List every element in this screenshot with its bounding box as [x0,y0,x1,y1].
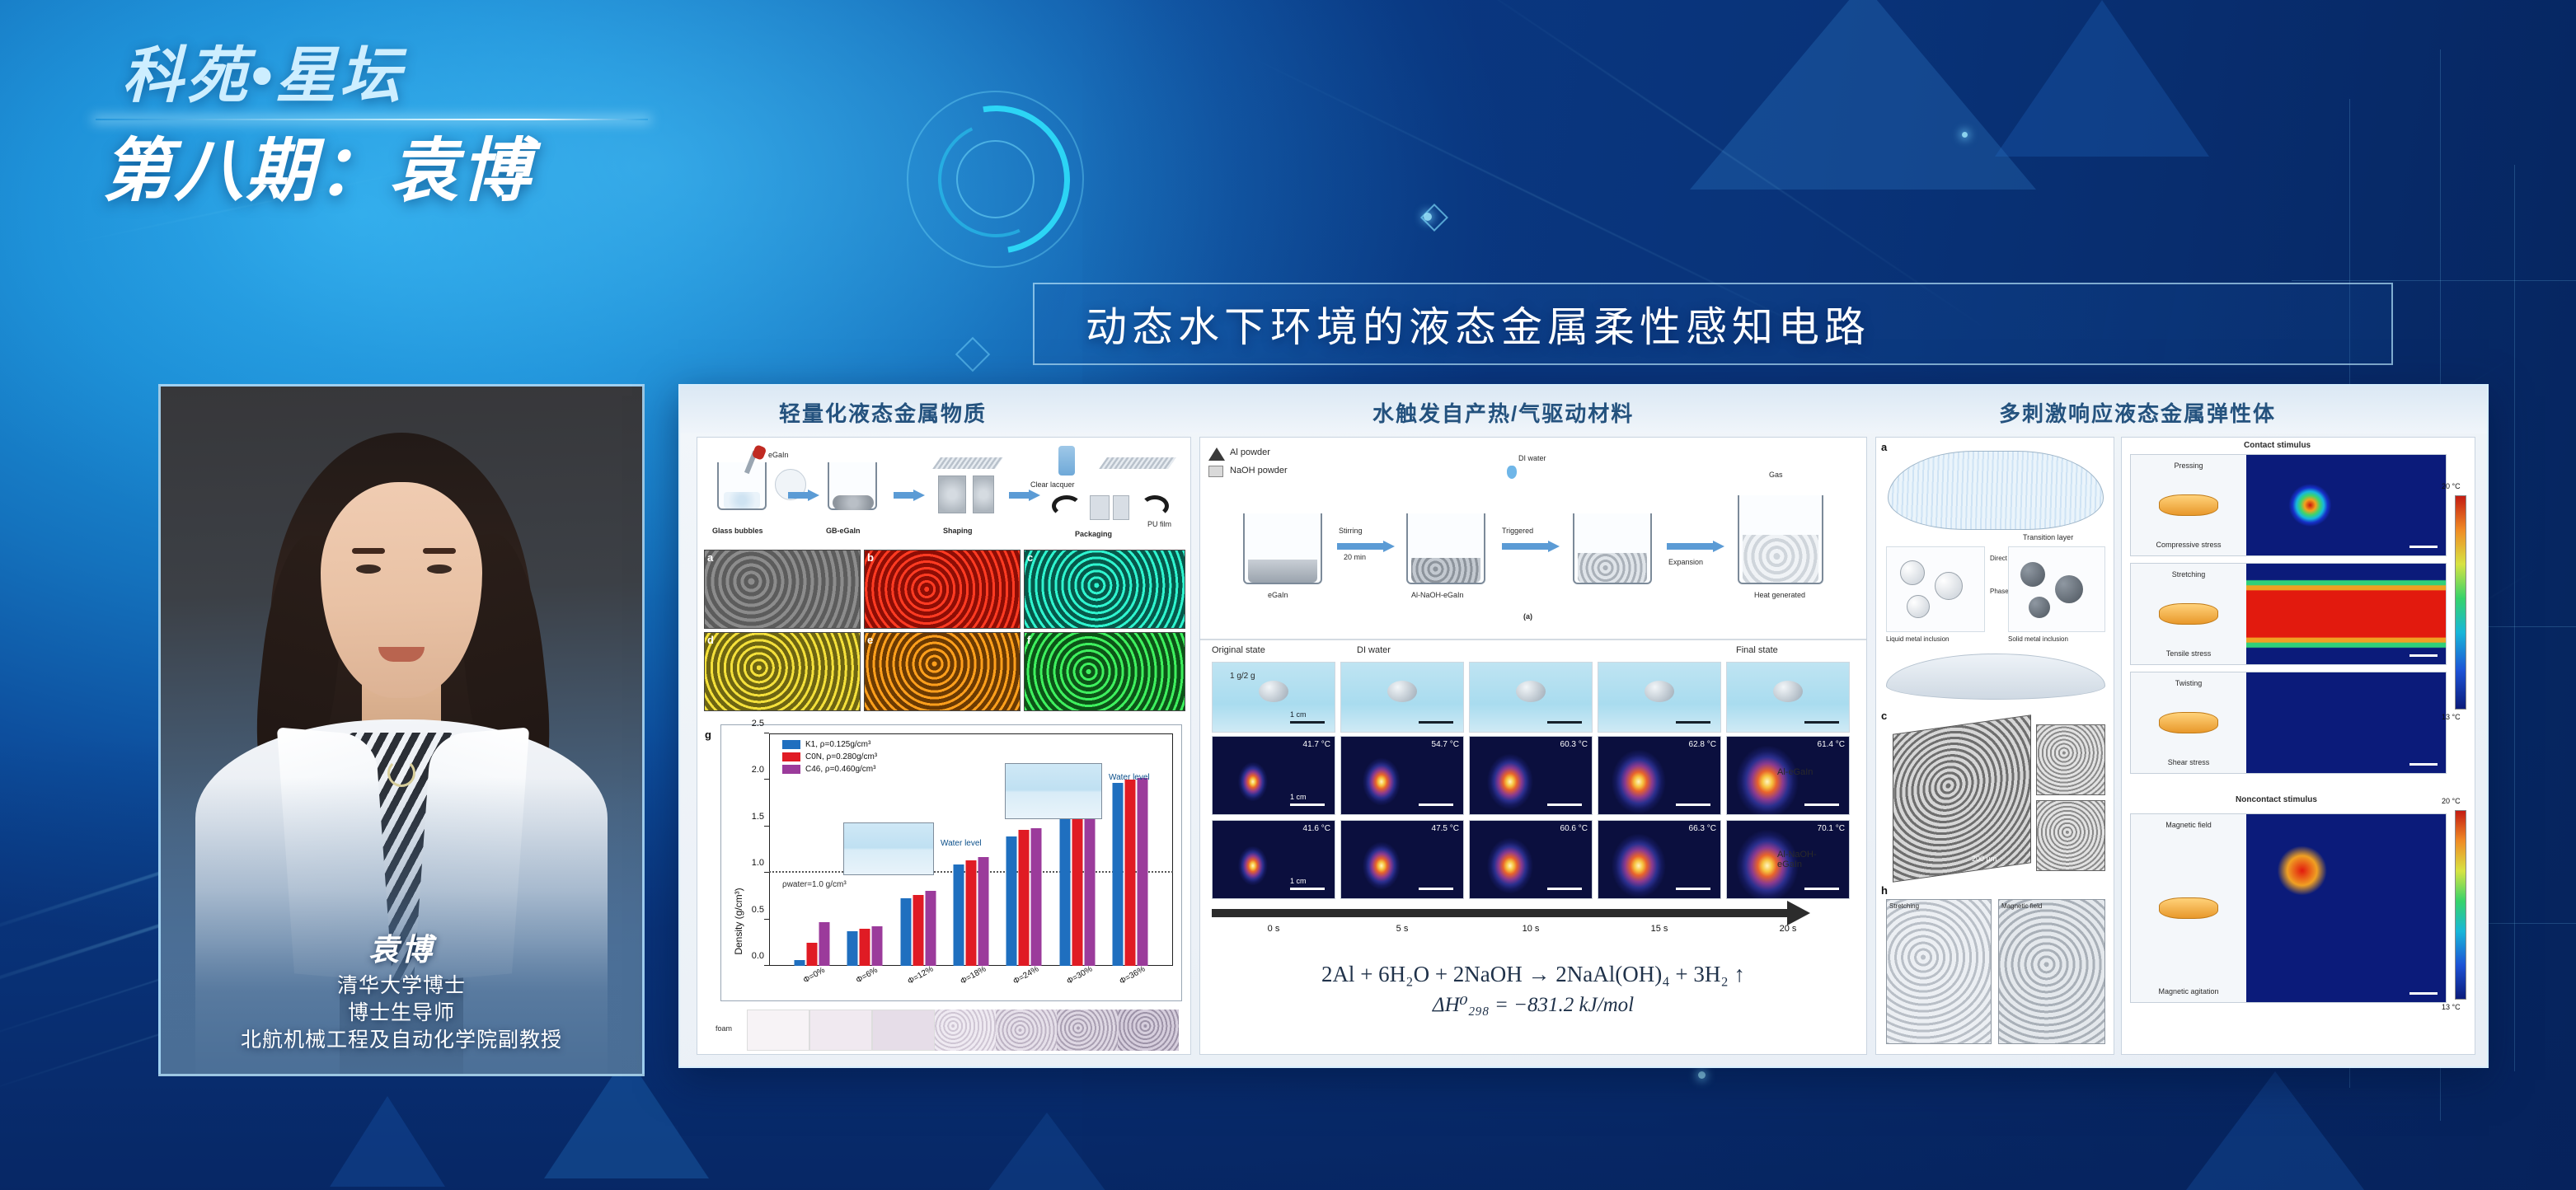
foam-swatch-2 [809,1010,872,1051]
scale-bar [1290,803,1325,806]
thermal-temperature-label: 60.3 °C [1560,740,1588,749]
chart-bar [978,857,989,966]
chart-x-tick-label: Φ=36% [1119,965,1147,986]
mid-step-3-note: Heat generated [1754,591,1805,599]
portrait-brow-right [423,548,456,554]
stimulus-action-label: Twisting [2175,679,2203,687]
scale-bar [1804,803,1839,806]
stimulus-action-label: Stretching [2172,570,2206,579]
mid-step-3-label: Expansion [1668,558,1703,566]
speaker-name: 袁博 [161,925,642,969]
figure-panel-label-1: 轻量化液态金属物质 [779,397,987,428]
mid-arrow-1-bar [1337,543,1383,550]
scale-bar [1290,888,1325,890]
tech-ring-inner [956,140,1035,218]
micro-ct-cube [1893,714,2031,883]
triangle-decor-6 [973,1113,1121,1190]
chart-x-tick-label: Φ=18% [959,965,988,986]
chart-inset-waterlevel-1 [843,822,934,875]
figure-panel-label-2: 水触发自产热/气驱动材料 [1372,397,1634,428]
scale-bar [1419,888,1453,890]
contact-stimulus-title: Contact stimulus [2244,441,2311,450]
speaker-credential-2: 博士生导师 [161,1000,642,1027]
chart-bar [900,898,911,966]
thermal-image-cell: 62.8 °C [1598,736,1721,815]
foam-swatch-6 [1057,1010,1118,1051]
thermal-row-2-name: Al-NaOH-eGaIn [1777,850,1835,869]
stimulus-stress-label: Shear stress [2168,758,2210,766]
stimulus-thermal-map [2246,672,2446,773]
foam-swatch-4 [935,1010,996,1051]
chart-legend-label: K1, ρ=0.125g/cm³ [805,740,870,749]
mid-arrow-2-head [1548,541,1560,552]
sample-blob [1645,681,1674,702]
scale-bar [1547,721,1582,724]
timeline-arrow-head [1787,901,1810,925]
thermal-row-al-naoh-egain: 41.6 °C1 cm47.5 °C60.6 °C66.3 °C70.1 °C [1212,820,1851,899]
timeline-time-label: 20 s [1780,924,1797,934]
chart-bar [872,926,883,966]
sample-photo-cell [1469,662,1593,733]
sample-photo-cell [1598,662,1721,733]
micro-ct-slice-2 [2036,800,2105,871]
chart-y-axis-label: Density (g/cm³) [733,888,744,954]
sample-photo-row: 1 cm [1212,662,1851,733]
micrograph-orange [864,632,1021,711]
schematic-panel-tag: (a) [1523,612,1532,621]
figure-subpanel-water-triggered: Al powder NaOH powder eGaIn Stirring 20 … [1199,437,1867,1055]
scale-bar [1290,721,1325,724]
chart-y-tick-label: 0.0 [752,951,764,961]
naoh-powder-marker [1208,466,1223,477]
mid-step-2-note: Al-NaOH-eGaIn [1411,591,1464,599]
scale-bar [1804,888,1839,890]
chart-letter-g: g [705,729,711,741]
flow-annotation-egain: eGaIn [768,451,789,459]
flow-arrow-3-bar [1009,492,1029,499]
title-block: 科苑•星坛 第八期：袁博 [87,40,615,213]
chart-bar [1031,828,1042,966]
sample-blob [1259,681,1288,702]
reaction-equation-block: 2Al + 6H₂O + 2NaOH → 2NaAl(OH)₄ + 3H₂ ↑ … [1200,962,1866,1017]
expansion-foam [1743,535,1818,583]
flow-annotation-pufilm: PU film [1147,520,1171,528]
glow-dot-1 [1424,213,1432,221]
reaction-mixture [1578,553,1647,583]
spray-bottle [1058,446,1075,476]
chart-bar [1006,836,1017,966]
chart-top-spine [769,733,1173,734]
scale-bar [1419,721,1453,724]
glow-dot-3 [1962,132,1968,138]
chart-annotation-waterlevel-2: Water level [1109,773,1150,782]
micro-letter-b: b [867,551,874,564]
chart-legend-swatch [782,765,800,774]
triangle-decor-1 [1690,0,2036,190]
chart-bar [860,929,870,966]
mold-plate-1 [932,457,1003,469]
speaker-credential-1: 清华大学博士 [161,972,642,1000]
chart-bar [1084,803,1095,966]
scale-bar [1419,803,1453,806]
title-divider [87,115,615,124]
sample-photo-cell [1340,662,1464,733]
scale-bar [2409,992,2438,995]
scale-bar [1547,803,1582,806]
chart-legend-label: C0N, ρ=0.280g/cm³ [805,752,877,761]
stimulus-row: PressingCompressive stress [2130,454,2447,556]
chart-bar [1019,830,1030,966]
flow-step-1-label: Glass bubbles [712,527,763,535]
thermal-colorbar-2 [2455,810,2466,1000]
thermal-image-cell: 41.6 °C1 cm [1212,820,1335,899]
chart-x-tick-label: Φ=0% [802,966,827,986]
flow-step-3-label: Shaping [943,527,973,535]
foam-label: foam [716,1024,732,1033]
material-label-diwater: DI water [1518,454,1546,462]
stimulus-thermal-map [2246,564,2446,664]
chart-bar [794,960,805,966]
micro-letter-d: d [707,634,714,646]
process-flow-diagram: eGaIn Glass bubbles GB-eGaIn Shaping Cle… [702,444,1187,541]
chart-bar [1059,809,1070,966]
flow-arrow-1-bar [788,492,808,499]
portrait-eye-right [427,565,452,574]
thermal-row-al-egain: 41.7 °C1 cm54.7 °C60.3 °C62.8 °C61.4 °C [1212,736,1851,815]
foam-swatch-strip [747,1010,1179,1051]
sample-photo-cell [1726,662,1850,733]
thermal-temperature-label: 66.3 °C [1689,824,1716,833]
stimulus-row: TwistingShear stress [2130,672,2447,774]
chart-reference-label: ρwater=1.0 g/cm³ [782,880,847,889]
chart-bar-group [1006,828,1042,966]
figure-subpanel-elastomer-structure: a Transition layer Liquid metal inclusio… [1875,437,2114,1055]
thermal-temperature-label: 41.7 °C [1303,740,1330,749]
chart-bar [1072,805,1082,966]
episode-title: 第八期：袁博 [87,129,615,213]
research-figure-panel: 轻量化液态金属物质 水触发自产热/气驱动材料 多刺激响应液态金属弹性体 eGaI… [678,384,2489,1068]
stimulus-thermal-map [2246,455,2446,555]
chart-y-tick-mark [764,965,769,966]
timeline-time-label: 0 s [1268,924,1280,934]
chart-x-tick-label: Φ=12% [906,965,935,986]
micrograph-green [1024,632,1185,711]
micrograph-yellow [704,632,861,711]
thermal-temperature-label: 41.6 °C [1303,824,1330,833]
scale-bar [2409,763,2438,766]
thermal-temperature-label: 60.6 °C [1560,824,1588,833]
mold-plate-2 [1099,457,1176,469]
stimulus-sample-shape [2159,494,2218,516]
flow-step-4-label: Packaging [1075,530,1112,538]
flow-step-2-label: GB-eGaIn [826,527,861,535]
sample-blob [1387,681,1417,702]
foam-swatch-3 [872,1010,935,1051]
chart-y-tick-label: 2.0 [752,765,764,775]
chart-bar [1113,783,1124,966]
thermal-image-cell: 41.7 °C1 cm [1212,736,1335,815]
wavy-film-illustration [1888,451,2104,530]
film-curve-right [1141,495,1169,517]
structure-label-solid-inclusion: Solid metal inclusion [2008,635,2068,643]
thermal-row-1-name: Al-eGaIn [1777,767,1813,777]
mesh-line-4 [2292,280,2576,281]
bubbles-content [724,492,760,508]
chart-legend-swatch [782,752,800,761]
scale-bar [1547,888,1582,890]
mesh-line-3 [2514,165,2515,1071]
chart-y-axis [769,733,770,966]
mid-arrow-3-head [1713,541,1724,552]
watermark: 科苑星坛 [1546,1030,1615,1052]
micro-letter-e: e [867,634,873,646]
reaction-equation: 2Al + 6H₂O + 2NaOH → 2NaAl(OH)₄ + 3H₂ ↑ [1200,962,1866,987]
chart-right-spine [1172,733,1173,966]
colorbar-high-label: 20 °C [2442,482,2461,490]
stimulus-stress-label: Magnetic agitation [2158,987,2218,996]
egain-liquid [1248,560,1317,583]
chart-legend-item: C0N, ρ=0.280g/cm³ [782,752,877,761]
flow-arrow-1-head [808,490,819,501]
chart-bar-group [1113,778,1148,966]
stimulus-illustration: Magnetic fieldMagnetic agitation [2131,814,2246,1002]
structure-label-transition-layer: Transition layer [2023,533,2073,541]
stretch-label: Stretching [1889,902,1919,910]
chart-inset-waterlevel-2 [1005,763,1102,819]
stretch-micrograph [1886,899,1992,1044]
material-label-egain: eGaIn [1268,591,1288,599]
chart-legend-label: C46, ρ=0.460g/cm³ [805,765,875,774]
chart-x-tick-label: Φ=30% [1065,965,1094,986]
scale-bar-label: 1 cm [1290,877,1307,885]
stimulus-sample-shape [2159,603,2218,625]
scale-bar-label: 1 cm [1290,710,1307,719]
mid-arrow-3-bar [1667,543,1713,550]
triangle-decor-4 [330,1096,445,1187]
stimulus-row: StretchingTensile stress [2130,563,2447,665]
density-bar-chart: g Density (g/cm³) 0.00.51.01.52.02.5 Φ=0… [720,724,1182,1001]
al-powder-marker [1208,447,1225,461]
film-curve-left [1052,495,1082,517]
structure-label-liquid-inclusion: Liquid metal inclusion [1886,635,1950,643]
thermal-colorbar [2455,495,2466,710]
scale-bar [1676,888,1710,890]
material-label-naoh: NaOH powder [1230,466,1288,476]
chart-bar [966,860,977,966]
stimulus-sample-shape [2159,897,2218,919]
stimulus-sample-shape [2159,712,2218,733]
chart-y-tick-label: 0.5 [752,905,764,915]
stimulus-thermal-map [2246,814,2446,1002]
state-label-final: Final state [1736,645,1778,655]
chart-legend-item: C46, ρ=0.460g/cm³ [782,765,877,774]
mid-step-2-label: Triggered [1502,527,1533,535]
stimulus-stress-label: Compressive stress [2156,541,2221,549]
chart-bar-group [794,922,829,966]
sample-blob [1516,681,1546,702]
mid-step-1-note: 20 min [1344,553,1366,561]
chart-x-tick-label: Φ=6% [855,966,880,986]
gb-egain-paste [833,495,874,510]
chart-plot-area: 0.00.51.01.52.02.5 Φ=0%Φ=6%Φ=12%Φ=18%Φ=2… [769,733,1173,966]
diwater-drop-icon [1507,466,1517,479]
chart-legend-swatch [782,740,800,749]
flow-arrow-2-head [913,490,925,501]
triangle-decor-2 [1995,0,2209,157]
scale-bar [2409,654,2438,657]
mid-arrow-2-bar [1502,543,1548,550]
sample-weight-label: 1 g/2 g [1230,672,1255,681]
chart-legend: K1, ρ=0.125g/cm³C0N, ρ=0.280g/cm³C46, ρ=… [782,740,877,777]
state-label-diwater: DI water [1357,645,1391,655]
shaped-block-2 [973,476,994,513]
al-naoh-egain-mixture [1411,558,1480,583]
chart-y-tick-label: 2.5 [752,719,764,729]
figure-subpanel-stimulus: Contact stimulus PressingCompressive str… [2121,437,2475,1055]
micro-letter-a: a [707,551,713,564]
flow-arrow-3-head [1029,490,1040,501]
micro-letter-f: f [1027,634,1030,646]
magnetic-micrograph [1998,899,2105,1044]
speaker-info: 袁博 清华大学博士 博士生导师 北航机械工程及自动化学院副教授 [161,925,642,1054]
timeline-time-label: 10 s [1523,924,1540,934]
thermal-image-cell: 60.3 °C [1469,736,1593,815]
stimulus-row: Magnetic fieldMagnetic agitation [2130,813,2447,1003]
flow-annotation-lacquer: Clear lacquer [1030,480,1075,489]
thermal-temperature-label: 61.4 °C [1818,740,1845,749]
scale-bar [1676,721,1710,724]
chart-bar [925,891,936,966]
magnet-label: Magnetic field [2001,902,2042,910]
speaker-credential-3: 北航机械工程及自动化学院副教授 [161,1027,642,1054]
triangle-decor-5 [2176,1071,2374,1190]
series-title: 科苑•星坛 [87,40,615,111]
micro-ct-scale: 200 µm [1972,855,1997,863]
bent-film-photo [1886,654,2105,700]
chart-y-tick-label: 1.5 [752,812,764,822]
solid-inclusion-illustration [2008,546,2105,632]
scale-bar-label: 1 cm [1290,793,1307,801]
chart-bar [806,943,817,966]
chart-y-tick-mark [764,826,769,827]
chart-bar-group [954,857,989,966]
scale-bar [1676,803,1710,806]
mid-arrow-1-head [1383,541,1395,552]
micrograph-red [864,550,1021,629]
packaged-block-1 [1090,495,1110,520]
scale-bar [2409,546,2438,548]
thermal-image-cell: 47.5 °C [1340,820,1464,899]
sample-blob [1773,681,1803,702]
colorbar-2-high-label: 20 °C [2442,797,2461,805]
thermal-image-cell: 54.7 °C [1340,736,1464,815]
thermal-temperature-label: 54.7 °C [1432,740,1459,749]
liquid-inclusion-illustration [1886,546,1985,632]
figure-subpanel-lightweight: eGaIn Glass bubbles GB-eGaIn Shaping Cle… [697,437,1191,1055]
micrograph-cyan [1024,550,1185,629]
material-label-al: Al powder [1230,447,1270,457]
chart-bar [819,922,829,966]
stimulus-action-label: Pressing [2174,461,2203,470]
chart-y-tick-mark [764,919,769,920]
timeline-labels: 0 s5 s10 s15 s20 s [1212,924,1851,942]
thermal-temperature-label: 62.8 °C [1689,740,1716,749]
reaction-enthalpy: ΔH⁰₂₉₈ = −831.2 kJ/mol [1200,992,1866,1017]
chart-y-tick-label: 1.0 [752,858,764,868]
schematic-divider [1200,639,1867,640]
chart-bar [847,931,858,966]
chart-bar-group [1059,803,1095,966]
chart-bar-group [900,891,936,966]
chart-legend-item: K1, ρ=0.125g/cm³ [782,740,877,749]
colorbar-low-label: 13 °C [2442,713,2461,721]
structure-letter-h: h [1881,884,1888,897]
chart-bar [913,895,923,966]
mid-step-1-label: Stirring [1339,527,1363,535]
glow-dot-2 [1698,1071,1706,1079]
packaged-block-2 [1113,495,1129,520]
timeline-time-label: 5 s [1396,924,1409,934]
stimulus-stress-label: Tensile stress [2166,649,2212,658]
thermal-image-cell: 66.3 °C [1598,820,1721,899]
speaker-card: 袁博 清华大学博士 博士生导师 北航机械工程及自动化学院副教授 [158,384,645,1076]
reaction-schematic: Al powder NaOH powder eGaIn Stirring 20 … [1200,438,1867,639]
thermal-temperature-label: 70.1 °C [1818,824,1845,833]
chart-bar-group [847,926,883,966]
foam-swatch-5 [996,1010,1057,1051]
structure-letter-c: c [1881,710,1887,722]
flow-arrow-2-bar [894,492,913,499]
portrait-brow-left [352,548,385,554]
chart-y-tick-mark [764,733,769,733]
stimulus-illustration: StretchingTensile stress [2131,564,2246,664]
figure-panel-label-3: 多刺激响应液态金属弹性体 [1999,397,2276,428]
shaped-block-1 [938,476,966,513]
structure-letter-a: a [1881,441,1887,453]
portrait-eye-left [356,565,381,574]
talk-subtitle: 动态水下环境的液态金属柔性感知电路 [1035,294,1870,354]
material-label-gas: Gas [1769,471,1783,479]
chart-annotation-waterlevel-1: Water level [941,839,982,848]
chart-bar [1125,780,1136,966]
stimulus-illustration: PressingCompressive stress [2131,455,2246,555]
state-label-original: Original state [1212,645,1265,655]
timeline-arrow-bar [1212,909,1789,917]
chart-y-tick-mark [764,779,769,780]
micro-ct-slice-1 [2036,724,2105,795]
timeline-time-label: 15 s [1651,924,1668,934]
stimulus-action-label: Magnetic field [2165,821,2212,829]
noncontact-stimulus-title: Noncontact stimulus [2236,795,2317,804]
foam-swatch-7 [1118,1010,1179,1051]
thermal-image-cell: 60.6 °C [1469,820,1593,899]
chart-bar [1138,778,1148,966]
chart-x-tick-label: Φ=24% [1012,965,1041,986]
foam-swatch-1 [747,1010,809,1051]
micro-letter-c: c [1027,551,1033,564]
chart-bar [954,864,964,966]
colorbar-2-low-label: 13 °C [2442,1003,2461,1011]
micrograph-sem-gray [704,550,861,629]
stimulus-illustration: TwistingShear stress [2131,672,2246,773]
scale-bar [1804,721,1839,724]
talk-subtitle-bar: 动态水下环境的液态金属柔性感知电路 [1033,283,2393,365]
thermal-temperature-label: 47.5 °C [1432,824,1459,833]
